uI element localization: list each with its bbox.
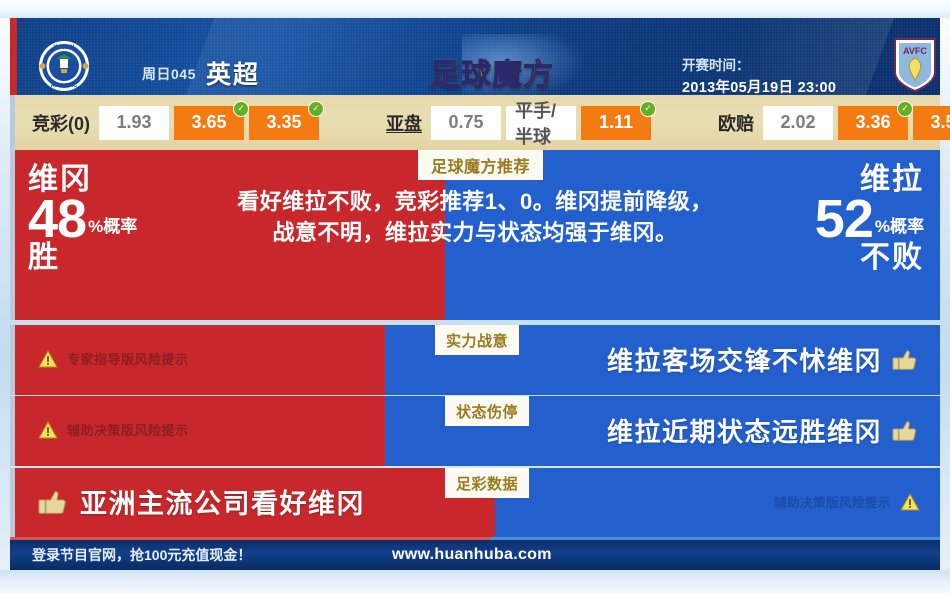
risk-note-expert: 专家指导版风险提示 [38,349,189,368]
odds-cell-jingcai-away[interactable]: 3.35 ✓ [249,106,319,140]
away-team-badge-avfc: AVFC [892,36,938,94]
risk-note-assist: 辅助决策版风险提示 [38,420,189,439]
insight-row-data: 亚洲主流公司看好维冈 足彩数据 辅助决策版风险提示 [10,468,940,538]
odds-group-jingcai: 竞彩(0) 1.93 3.65 ✓ 3.35 ✓ [32,95,324,150]
page-top-gradient [0,0,950,18]
recommendation-tag: 足球魔方推荐 [418,150,543,180]
match-round-label: 周日045 [142,64,196,84]
insight-headline-strength: 维拉客场交锋不怵维冈 [607,341,918,378]
risk-note-text: 辅助决策版风险提示 [774,492,891,511]
odds-group-asian: 亚盘 0.75 平手/半球 1.11 ✓ [386,95,656,150]
probability-band: 维冈 48 %概率 胜 维拉 52 %概率 不败 足球魔方推荐 看好维拉不败，竞… [10,150,940,320]
warning-icon [38,350,58,368]
odds-bar: 竞彩(0) 1.93 3.65 ✓ 3.35 ✓ 亚盘 0.75 平手/半球 1… [10,95,940,150]
row-left-edge [10,468,15,538]
row-left-edge [10,396,15,466]
match-header: WIGAN ATHLETIC 周日045 英超 足球魔方 开赛时间： 2013年… [10,18,940,95]
odds-cell-asian-handicap[interactable]: 平手/半球 [506,106,576,140]
odds-cell-euro-away[interactable]: 3.54 ✓ [913,106,950,140]
prediction-card: WIGAN ATHLETIC 周日045 英超 足球魔方 开赛时间： 2013年… [0,0,950,593]
odds-value: 平手/半球 [515,97,567,149]
home-probability-block: 维冈 48 %概率 胜 [28,164,137,274]
footer-promo-text: 登录节目官网，抢100元充值现金！ [32,545,251,565]
odds-cell-asian-home[interactable]: 0.75 [431,106,501,140]
insight-headline-text: 亚洲主流公司看好维冈 [80,482,365,521]
recommendation-text: 看好维拉不败，竞彩推荐1、0。维冈提前降级，战意不明，维拉实力与状态均强于维冈。 [235,186,715,248]
insight-tag-strength: 实力战意 [435,325,519,355]
risk-note-text: 专家指导版风险提示 [67,349,189,368]
odds-bar-left-edge [10,95,15,150]
odds-value: 1.93 [116,112,151,133]
brand-logo: 足球魔方 [422,44,562,95]
odds-group-label: 亚盘 [386,110,422,136]
insight-tag-data: 足彩数据 [445,468,529,498]
home-probability-suffix: %概率 [88,212,137,245]
check-icon: ✓ [897,101,913,117]
home-team-badge-wigan: WIGAN ATHLETIC [38,40,90,92]
thumbs-up-icon [892,419,918,443]
row-left-edge [10,325,15,395]
check-icon: ✓ [640,101,656,117]
footer-bar: 登录节目官网，抢100元充值现金！ www.huanhuba.com [10,540,940,570]
insight-row-strength: 专家指导版风险提示 实力战意 维拉客场交锋不怵维冈 [10,325,940,395]
odds-value: 3.54 [930,112,950,133]
odds-value: 3.36 [855,112,890,133]
odds-value: 3.35 [266,112,301,133]
odds-cell-asian-away[interactable]: 1.11 ✓ [581,106,651,140]
svg-text:AVFC: AVFC [903,46,927,56]
risk-note-text: 辅助决策版风险提示 [67,420,189,439]
away-probability-block: 维拉 52 %概率 不败 [815,164,924,274]
odds-value: 2.02 [780,112,815,133]
odds-value: 1.11 [599,112,633,133]
risk-note-assist-right: 辅助决策版风险提示 [774,492,920,511]
footer-website-url[interactable]: www.huanhuba.com [392,546,552,564]
kickoff-label: 开赛时间： [682,54,750,74]
insight-row-form: 辅助决策版风险提示 状态伤停 维拉近期状态远胜维冈 [10,396,940,466]
thumbs-up-icon [892,348,918,372]
insight-headline-text: 维拉客场交锋不怵维冈 [607,341,882,378]
page-bottom-gradient [0,570,950,593]
match-league-label: 英超 [206,55,260,91]
brand-logo-text: 足球魔方 [430,50,554,94]
odds-value: 3.65 [191,112,226,133]
warning-icon [38,421,58,439]
odds-cell-jingcai-home[interactable]: 1.93 [99,106,169,140]
warning-icon [900,493,920,511]
odds-value: 0.75 [448,112,483,133]
kickoff-time: 2013年05月19日 23:00 [682,76,836,95]
insight-headline-data: 亚洲主流公司看好维冈 [38,482,365,521]
home-probability-value: 48 [28,194,86,245]
svg-text:ATHLETIC: ATHLETIC [51,83,78,89]
odds-cell-jingcai-draw[interactable]: 3.65 ✓ [174,106,244,140]
insight-headline-text: 维拉近期状态远胜维冈 [607,412,882,449]
odds-group-euro: 欧赔 2.02 3.36 ✓ 3.54 ✓ [718,95,950,150]
footer-accent-blue [490,537,940,540]
thumbs-up-icon [38,488,68,516]
check-icon: ✓ [308,101,324,117]
insight-headline-form: 维拉近期状态远胜维冈 [607,412,918,449]
odds-group-label: 竞彩(0) [32,110,90,136]
header-red-edge [10,18,17,95]
insight-tag-form: 状态伤停 [445,396,529,426]
check-icon: ✓ [233,101,249,117]
odds-cell-euro-draw[interactable]: 3.36 ✓ [838,106,908,140]
odds-cell-euro-home[interactable]: 2.02 [763,106,833,140]
svg-text:WIGAN: WIGAN [54,45,75,51]
odds-group-label: 欧赔 [718,110,754,136]
away-probability-value: 52 [815,194,873,245]
band-left-edge [10,150,15,320]
footer-accent-red [10,537,490,540]
